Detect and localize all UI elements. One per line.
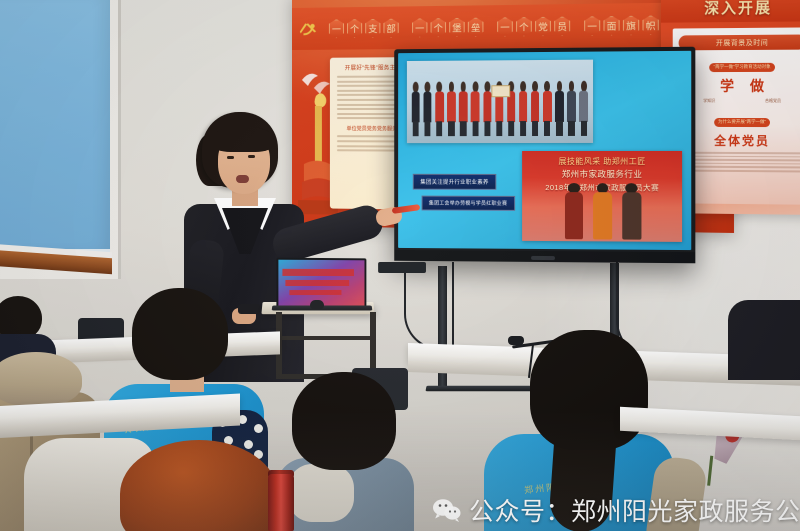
slide-photo-group-award [407, 60, 593, 143]
slogan-char: 党 [535, 16, 551, 36]
person-figure [470, 82, 481, 137]
person-figure [578, 81, 589, 136]
slogan-char: 旗 [623, 15, 639, 35]
laptop-screen [278, 260, 364, 307]
slogan-char: 一 [497, 17, 513, 37]
slogan-char: 一 [329, 19, 344, 38]
audience-back-left [0, 296, 64, 356]
torso [728, 300, 800, 380]
slogan-char: 一 [412, 18, 427, 38]
board-members-label: 全体党员 [679, 132, 800, 150]
slide-bullet-1: 集团关注提升行业职业素养 [412, 174, 496, 190]
award-certificate [492, 85, 511, 98]
stage-person [592, 183, 613, 240]
fur-hood [0, 352, 82, 406]
text-line [682, 155, 800, 157]
board-keyword-learn-do: 学做 [679, 76, 800, 96]
tv-cable [452, 262, 454, 354]
slogan-char: 帜 [642, 15, 658, 35]
blue-window-blind [0, 0, 110, 254]
person-figure [458, 82, 469, 136]
person-figure [410, 82, 421, 136]
slogan-char: 员 [554, 16, 570, 36]
slide-bullet-2: 集团工会举办劳模与学员红职业赛 [421, 195, 515, 210]
person-figure [542, 81, 553, 136]
person-figure [518, 81, 529, 136]
banner-line-2: 郑州市家政服务行业 [523, 168, 683, 181]
audience-far-right [728, 300, 800, 380]
person-figure [554, 81, 565, 136]
tv-mount-neck [378, 262, 426, 273]
wechat-icon [432, 498, 461, 523]
photo-scene: 一 个 支 部 一 个 堡 垒 一 个 党 员 一 面 旗 帜 [0, 0, 800, 531]
party-emblem-icon [298, 19, 320, 39]
board-section-title: 开展背景及时间 [679, 34, 800, 50]
text-line [682, 159, 800, 161]
tv-screen: 展技能风采 助郑州工匠 郑州市家政服务行业 2018年度郑州市家政服务员大赛 集… [398, 51, 691, 250]
keyword-learn: 学 [720, 78, 750, 94]
person-figure [530, 81, 541, 136]
head [132, 288, 228, 380]
keyword-do: 做 [750, 78, 780, 94]
tv-brand-logo [531, 256, 555, 260]
board-tag-activity: "两学一做"学习教育活动对象 [710, 62, 775, 71]
caption-do: 合格党员 [765, 98, 781, 104]
computer-mouse[interactable] [310, 300, 324, 309]
person-figure [446, 82, 457, 136]
presenter-mouth [236, 175, 249, 183]
slogan-char: 面 [603, 15, 619, 35]
presenter-fringe [212, 126, 274, 152]
slogan-char: 一 [584, 16, 600, 36]
text-line [682, 170, 800, 172]
text-line [682, 152, 800, 154]
text-line [682, 166, 800, 168]
watermark: 公众号：郑州阳光家政服务公司 [432, 492, 800, 528]
text-line [682, 162, 800, 164]
board-right-header: 深入开展 [661, 0, 800, 23]
person-figure [422, 82, 433, 136]
watermark-text: 公众号：郑州阳光家政服务公司 [469, 492, 800, 528]
presentation-tv[interactable]: 展技能风采 助郑州工匠 郑州市家政服务行业 2018年度郑州市家政服务员大赛 集… [394, 47, 695, 264]
banner-line-1: 展技能风采 助郑州工匠 [523, 156, 683, 169]
board-keyword-captions: 学知识 合格党员 [679, 98, 800, 104]
stage-person [564, 183, 585, 239]
stage-person [621, 183, 642, 240]
slogan-char: 个 [431, 18, 446, 38]
slogan-char: 部 [383, 18, 398, 37]
slogan-char: 堡 [449, 17, 465, 37]
presenter-eye [227, 156, 234, 159]
person-figure [566, 81, 577, 136]
board-tag-members: 为什么要开展"两学一做" [714, 117, 770, 126]
slide-photo-stage-award: 展技能风采 助郑州工匠 郑州市家政服务行业 2018年度郑州市家政服务员大赛 [523, 150, 683, 242]
presenter-eye [248, 155, 255, 158]
person-figure [434, 82, 445, 136]
caption-learn: 学知识 [703, 98, 715, 104]
slogan-char: 个 [516, 17, 532, 37]
slogan-char: 个 [347, 19, 362, 38]
slogan-char: 垒 [468, 17, 484, 37]
slogan-char: 支 [365, 18, 380, 37]
